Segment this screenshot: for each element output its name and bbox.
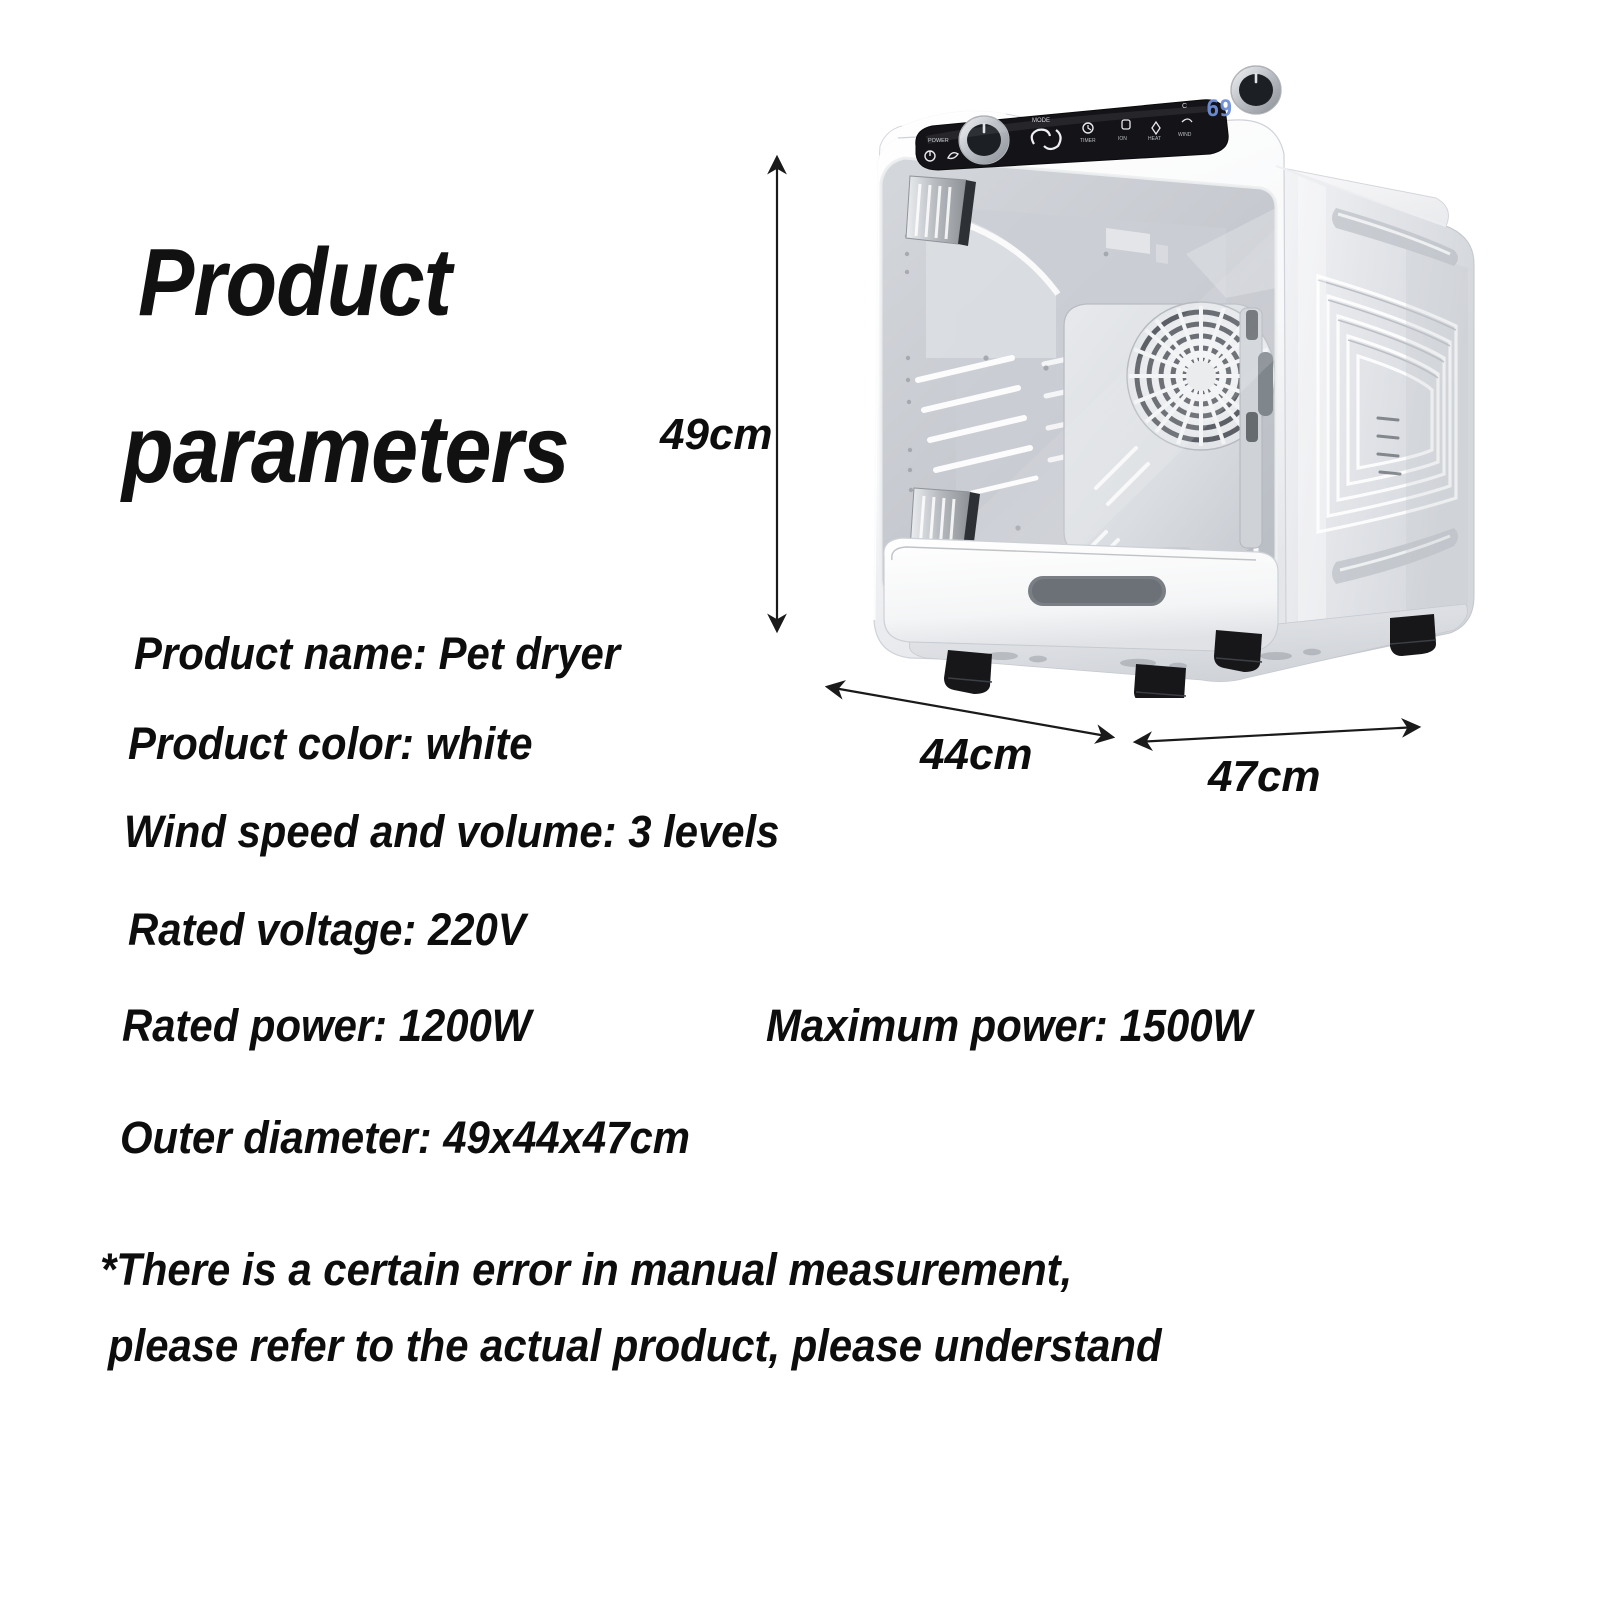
spec-rated-power: Rated power: 1200W	[122, 1000, 531, 1052]
spec-rated-voltage: Rated voltage: 220V	[128, 904, 526, 956]
spec-product-color: Product color: white	[128, 718, 533, 770]
spec-wind-speed: Wind speed and volume: 3 levels	[124, 806, 779, 858]
panel-digital-display: 69	[1206, 97, 1233, 122]
spec-maximum-power: Maximum power: 1500W	[766, 1000, 1252, 1052]
panel-label-wind: WIND	[1178, 132, 1192, 138]
page-title-line-2: parameters	[122, 395, 569, 505]
panel-knob-left[interactable]	[959, 116, 1009, 164]
dimension-label-depth: 47cm	[1208, 752, 1321, 802]
arrow-depth	[1136, 727, 1418, 742]
product-parameters-page: Product parameters Product name: Pet dry…	[0, 0, 1600, 1600]
disclaimer-line-2: please refer to the actual product, plea…	[108, 1320, 1162, 1372]
display-value: 69	[1206, 97, 1233, 122]
product-image-pet-dryer: POWER MODE TIMER	[806, 58, 1506, 698]
panel-label-ion: ION	[1118, 136, 1127, 142]
spec-product-name: Product name: Pet dryer	[134, 628, 620, 680]
page-title-line-1: Product	[138, 228, 451, 338]
dimension-label-width: 44cm	[920, 730, 1033, 780]
panel-label-heat: HEAT	[1148, 136, 1161, 142]
panel-knob-right[interactable]	[1231, 66, 1281, 114]
disclaimer-line-1: *There is a certain error in manual meas…	[100, 1244, 1072, 1296]
panel-label-timer: TIMER	[1080, 138, 1096, 144]
spec-outer-diameter: Outer diameter: 49x44x47cm	[120, 1112, 690, 1164]
dimension-label-height: 49cm	[660, 410, 773, 460]
